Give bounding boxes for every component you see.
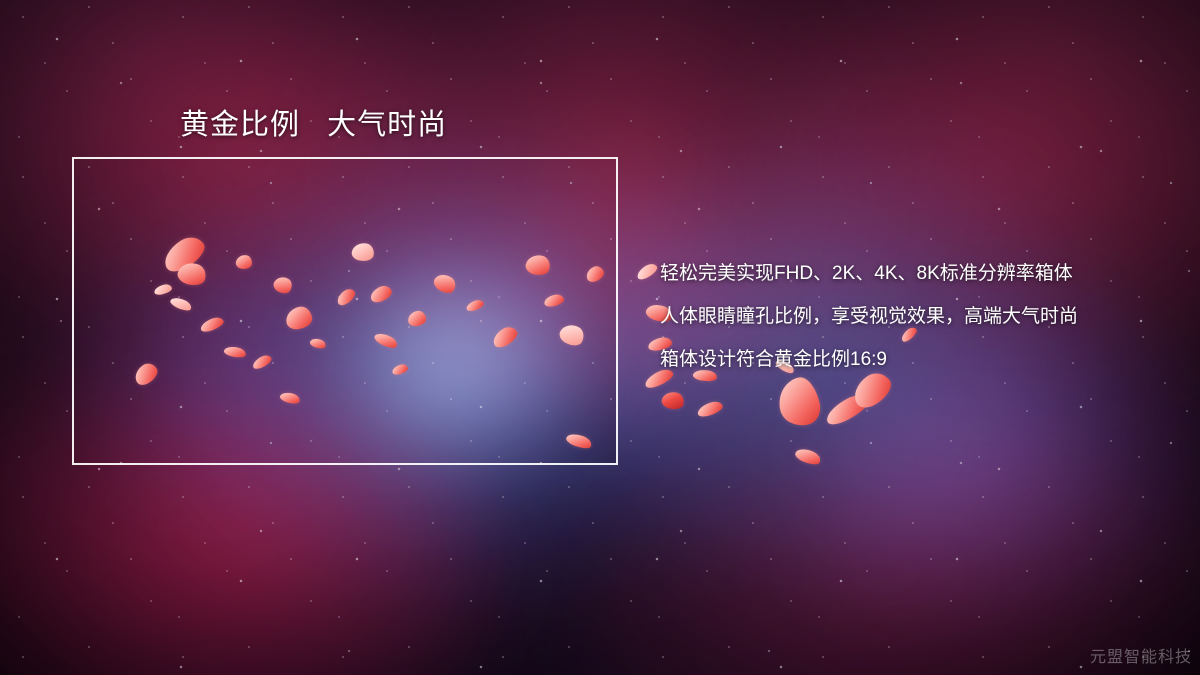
description-line-3: 箱体设计符合黄金比例16:9: [660, 338, 1160, 381]
description-line-1: 轻松完美实现FHD、2K、4K、8K标准分辨率箱体: [660, 252, 1160, 295]
page-title: 黄金比例 大气时尚: [180, 101, 447, 143]
description-line-2: 人体眼睛瞳孔比例，享受视觉效果，高端大气时尚: [660, 295, 1160, 338]
slide-canvas: 黄金比例 大气时尚 轻松完美实现FHD、2K、4K、8K标准分辨率箱体 人体眼睛…: [0, 0, 1200, 675]
image-frame-content: [74, 159, 616, 463]
description-block: 轻松完美实现FHD、2K、4K、8K标准分辨率箱体 人体眼睛瞳孔比例，享受视觉效…: [660, 252, 1160, 381]
watermark-label: 元盟智能科技: [1090, 643, 1192, 667]
image-frame: [72, 157, 618, 465]
